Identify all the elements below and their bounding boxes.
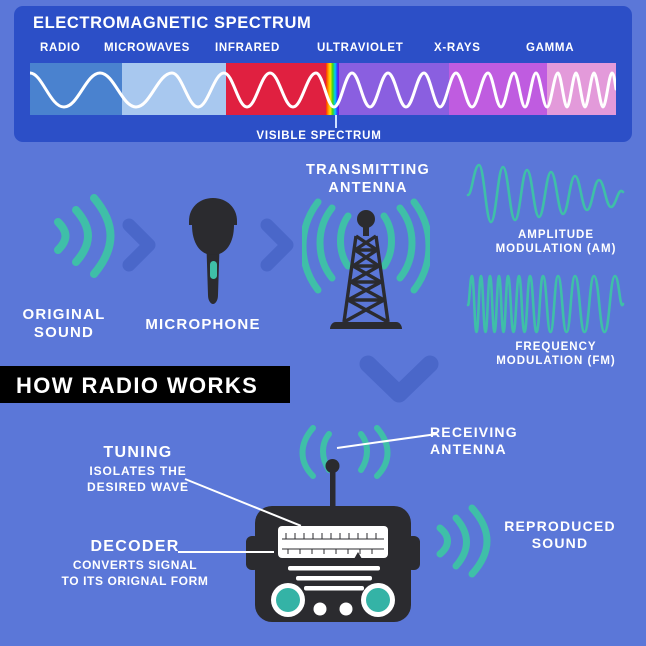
callout-decoder-sub: CONVERTS SIGNAL TO ITS ORIGNAL FORM: [40, 558, 230, 589]
infographic-canvas: ELECTROMAGNETIC SPECTRUM RADIO MICROWAVE…: [0, 0, 646, 646]
band-label-infrared: INFRARED: [215, 42, 280, 54]
band-label-ultraviolet: ULTRAVIOLET: [317, 42, 404, 54]
am-waveform-icon: [466, 162, 626, 228]
chevron-right-icon-2: [257, 215, 299, 275]
spectrum-band-labels: RADIO MICROWAVES INFRARED ULTRAVIOLET X-…: [14, 42, 632, 58]
callout-tuning: TUNING ISOLATES THE DESIRED WAVE: [48, 444, 228, 495]
band-label-gamma: GAMMA: [526, 42, 574, 54]
label-receiving-antenna: RECEIVING ANTENNA: [430, 424, 610, 458]
radio-receiver-icon: [238, 440, 438, 630]
label-microphone: MICROPHONE: [118, 316, 288, 334]
fm-waveform-icon: [466, 272, 626, 338]
label-reproduced-sound: REPRODUCED SOUND: [480, 518, 640, 552]
chevron-right-icon-1: [119, 215, 161, 275]
band-label-radio: RADIO: [40, 42, 81, 54]
microphone-icon: [182, 195, 244, 307]
chevron-down-icon: [356, 352, 442, 414]
electromagnetic-spectrum-panel: ELECTROMAGNETIC SPECTRUM RADIO MICROWAVE…: [14, 6, 632, 142]
banner-text: HOW RADIO WORKS: [16, 373, 258, 399]
callout-decoder-heading: DECODER: [40, 538, 230, 556]
visible-spectrum-pointer: [335, 115, 337, 128]
spectrum-bar: [30, 63, 616, 115]
sound-wave-icon-original: [38, 190, 118, 282]
band-label-microwaves: MICROWAVES: [104, 42, 190, 54]
label-frequency-modulation: FREQUENCY MODULATION (FM): [466, 340, 646, 368]
callout-decoder: DECODER CONVERTS SIGNAL TO ITS ORIGNAL F…: [40, 538, 230, 589]
callout-tuning-heading: TUNING: [48, 444, 228, 462]
band-label-xrays: X-RAYS: [434, 42, 481, 54]
visible-spectrum-label: VISIBLE SPECTRUM: [14, 130, 632, 142]
callout-tuning-sub: ISOLATES THE DESIRED WAVE: [48, 464, 228, 495]
page-title: ELECTROMAGNETIC SPECTRUM: [33, 14, 311, 33]
label-original-sound: ORIGINAL SOUND: [0, 306, 128, 343]
spectrum-waveform: [30, 63, 616, 115]
transmitting-antenna-icon: [302, 196, 430, 346]
label-transmitting-antenna: TRANSMITTING ANTENNA: [278, 162, 458, 197]
leader-line-decoder: [178, 551, 274, 553]
label-amplitude-modulation: AMPLITUDE MODULATION (AM): [466, 228, 646, 256]
title-banner: HOW RADIO WORKS: [0, 366, 290, 403]
